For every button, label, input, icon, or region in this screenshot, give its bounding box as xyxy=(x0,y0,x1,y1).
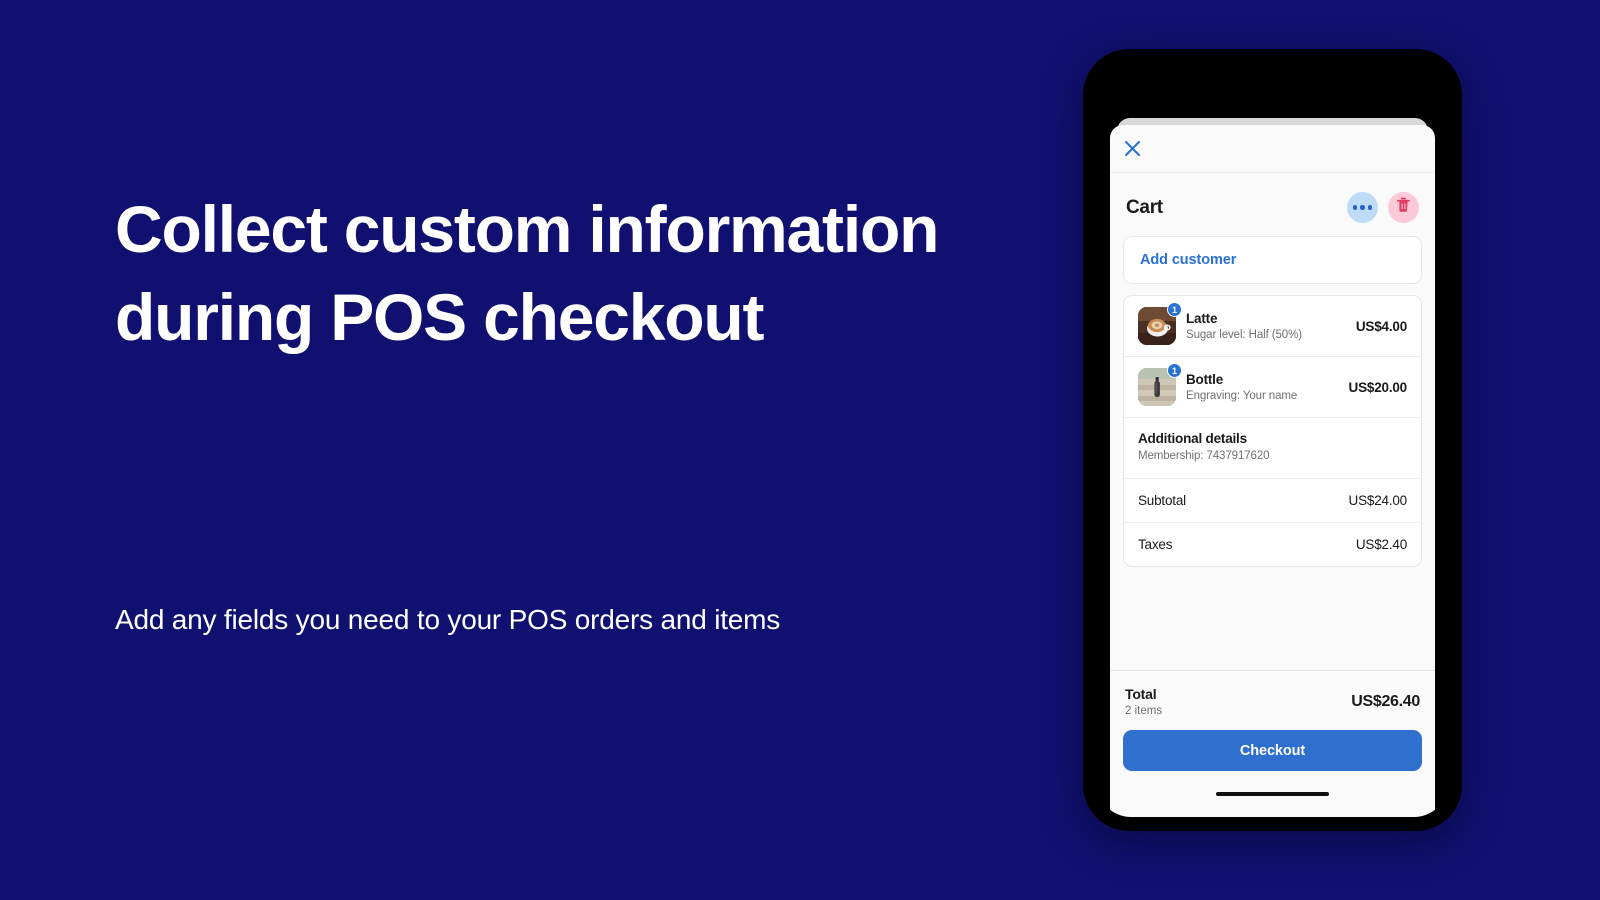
cart-line-item[interactable]: 1 Latte Sugar level: Half (50%) US$4.00 xyxy=(1124,296,1421,357)
cart-header: Cart xyxy=(1110,173,1435,236)
subtotal-row: Subtotal US$24.00 xyxy=(1124,479,1421,523)
modal-close-bar xyxy=(1110,125,1435,173)
add-customer-label: Add customer xyxy=(1140,252,1236,268)
additional-details-block[interactable]: Additional details Membership: 743791762… xyxy=(1124,418,1421,479)
checkout-button[interactable]: Checkout xyxy=(1123,730,1422,771)
close-x-icon[interactable] xyxy=(1123,139,1142,158)
cart-footer: Total 2 items US$26.40 Checkout xyxy=(1110,670,1435,817)
page-subtitle: Add any fields you need to your POS orde… xyxy=(115,600,1015,640)
cart-line-item[interactable]: 1 Bottle Engraving: Your name US$20.00 xyxy=(1124,357,1421,418)
cart-header-actions xyxy=(1347,192,1419,223)
line-item-info: Latte Sugar level: Half (50%) xyxy=(1186,310,1350,343)
cart-title: Cart xyxy=(1126,197,1163,219)
line-item-quantity-badge: 1 xyxy=(1167,363,1182,378)
clear-cart-button[interactable] xyxy=(1388,192,1419,223)
line-item-name: Bottle xyxy=(1186,371,1343,388)
marketing-copy: Collect custom information during POS ch… xyxy=(115,185,995,361)
line-item-option: Sugar level: Half (50%) xyxy=(1186,327,1350,343)
taxes-row: Taxes US$2.40 xyxy=(1124,523,1421,566)
line-item-name: Latte xyxy=(1186,310,1350,327)
grand-total-labels: Total 2 items xyxy=(1125,685,1162,719)
more-options-button[interactable] xyxy=(1347,192,1378,223)
cart-body: Add customer xyxy=(1110,236,1435,670)
slide-canvas: Collect custom information during POS ch… xyxy=(0,0,1600,900)
additional-details-title: Additional details xyxy=(1138,430,1407,448)
line-item-quantity-badge: 1 xyxy=(1167,302,1182,317)
page-title: Collect custom information during POS ch… xyxy=(115,185,995,361)
add-customer-card[interactable]: Add customer xyxy=(1123,236,1422,284)
trash-icon xyxy=(1396,197,1411,218)
ellipsis-icon xyxy=(1353,205,1372,209)
line-item-price: US$4.00 xyxy=(1350,319,1407,334)
phone-screen: Cart xyxy=(1097,63,1448,817)
cart-modal-sheet: Cart xyxy=(1110,125,1435,817)
line-item-info: Bottle Engraving: Your name xyxy=(1186,371,1343,404)
additional-details-value: Membership: 7437917620 xyxy=(1138,448,1407,465)
line-item-price: US$20.00 xyxy=(1343,380,1407,395)
line-item-thumbnail-wrap: 1 xyxy=(1138,307,1176,345)
taxes-label: Taxes xyxy=(1138,537,1172,552)
grand-total-label: Total xyxy=(1125,685,1162,703)
home-indicator-area xyxy=(1123,771,1422,817)
subtotal-amount: US$24.00 xyxy=(1349,493,1407,508)
grand-total-amount: US$26.40 xyxy=(1351,693,1420,711)
cart-lines-card: 1 Latte Sugar level: Half (50%) US$4.00 xyxy=(1123,295,1422,567)
grand-total-row: Total 2 items US$26.40 xyxy=(1123,683,1422,730)
line-item-option: Engraving: Your name xyxy=(1186,388,1343,404)
subtotal-label: Subtotal xyxy=(1138,493,1186,508)
taxes-amount: US$2.40 xyxy=(1356,537,1407,552)
line-item-thumbnail-wrap: 1 xyxy=(1138,368,1176,406)
phone-mockup: Cart xyxy=(1083,49,1462,831)
item-count-label: 2 items xyxy=(1125,703,1162,719)
home-indicator[interactable] xyxy=(1216,792,1329,797)
